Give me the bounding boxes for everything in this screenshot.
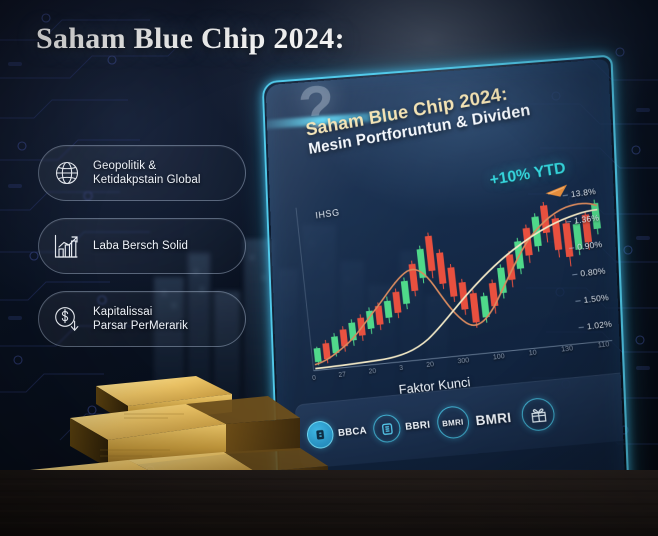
poster-canvas: Saham Blue Chip 2024: Geopolitik & Ketid…: [0, 0, 658, 536]
feature-pill-market-cap[interactable]: Kapitalissai Parsar PerMerarik: [38, 291, 246, 347]
ticker-label: BMRI: [442, 417, 464, 428]
bar-chart-growth-icon: [52, 231, 82, 261]
x-tick-label: 3: [399, 365, 404, 372]
x-tick-label: 100: [493, 353, 506, 361]
feature-pill-label: Geopolitik & Ketidakpstain Global: [93, 159, 200, 187]
feature-pill-net-profit[interactable]: Laba Bersch Solid: [38, 218, 246, 274]
x-tick-label: 10: [528, 349, 537, 357]
wooden-table-surface: [0, 470, 658, 536]
x-tick-label: 300: [457, 357, 469, 365]
feature-pill-label: Kapitalissai Parsar PerMerarik: [93, 305, 188, 333]
x-tick-label: 130: [561, 345, 574, 353]
feature-pill-list: Geopolitik & Ketidakpstain Global Laba B…: [38, 145, 246, 364]
dollar-circle-down-icon: [52, 304, 82, 334]
ticker-label: BMRI: [475, 409, 512, 427]
x-tick-label: 20: [426, 361, 434, 369]
feature-pill-label: Laba Bersch Solid: [93, 239, 188, 253]
screen-headline-group: Saham Blue Chip 2024: Mesin Portforuntun…: [304, 79, 531, 159]
bmri-circle-badge: BMRI: [435, 405, 470, 440]
ticker-chip-bmri-circle[interactable]: BMRI: [435, 405, 470, 440]
ticker-label: BBRI: [405, 419, 431, 432]
feature-pill-geopolitics[interactable]: Geopolitik & Ketidakpstain Global: [38, 145, 246, 201]
ticker-chip-bbri[interactable]: BBRI: [372, 411, 432, 444]
gift-icon: [520, 397, 556, 432]
ticker-chip-reward[interactable]: [516, 397, 556, 433]
wood-grain-texture: [0, 470, 658, 536]
page-title: Saham Blue Chip 2024:: [36, 22, 345, 56]
x-tick-label: 110: [597, 341, 610, 349]
bbri-logo-icon: [372, 413, 402, 443]
ticker-chip-bmri-text[interactable]: BMRI: [475, 409, 512, 427]
globe-icon: [52, 158, 82, 188]
